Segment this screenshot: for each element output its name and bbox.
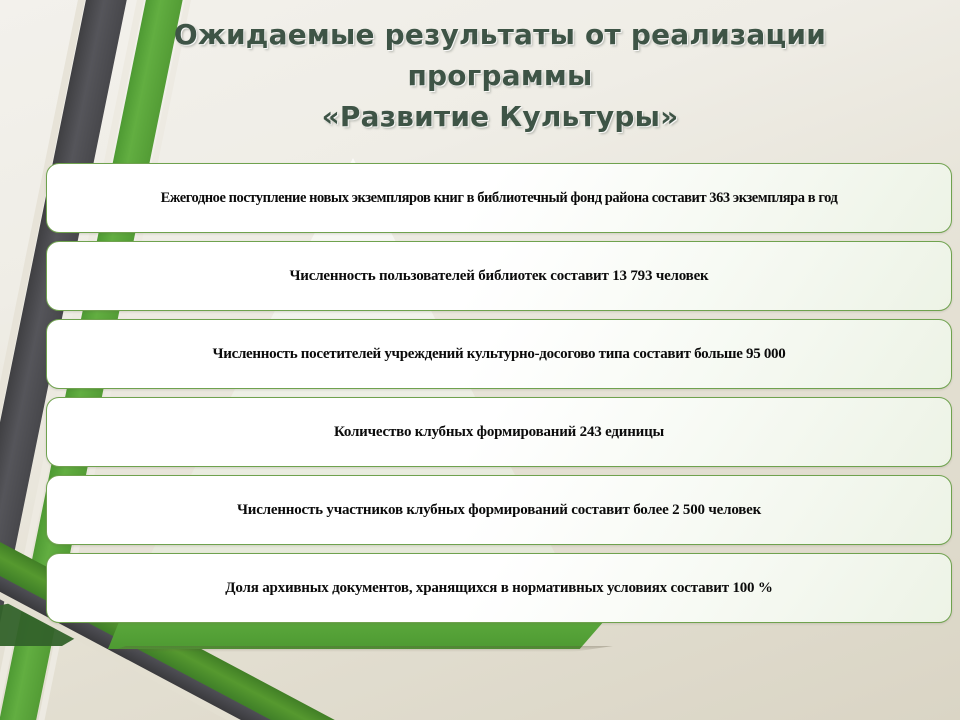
results-list: Ежегодное поступление новых экземпляров … xyxy=(46,163,952,631)
list-item[interactable]: Ежегодное поступление новых экземпляров … xyxy=(46,163,952,233)
list-item-label: Ежегодное поступление новых экземпляров … xyxy=(145,189,854,208)
list-item[interactable]: Численность пользователей библиотек сост… xyxy=(46,241,952,311)
list-item-label: Количество клубных формирований 243 един… xyxy=(318,423,680,442)
list-item-label: Численность участников клубных формирова… xyxy=(221,501,777,520)
pyramid-base-shadow-icon xyxy=(108,646,613,652)
list-item[interactable]: Количество клубных формирований 243 един… xyxy=(46,397,952,467)
list-item[interactable]: Численность посетителей учреждений культ… xyxy=(46,319,952,389)
list-item[interactable]: Доля архивных документов, хранящихся в н… xyxy=(46,553,952,623)
list-item-label: Численность пользователей библиотек сост… xyxy=(274,267,725,286)
slide-title: Ожидаемые результаты от реализации прогр… xyxy=(150,14,850,137)
list-item[interactable]: Численность участников клубных формирова… xyxy=(46,475,952,545)
list-item-label: Численность посетителей учреждений культ… xyxy=(197,345,802,364)
list-item-label: Доля архивных документов, хранящихся в н… xyxy=(209,579,788,598)
presentation-slide: Ожидаемые результаты от реализации прогр… xyxy=(0,0,960,720)
